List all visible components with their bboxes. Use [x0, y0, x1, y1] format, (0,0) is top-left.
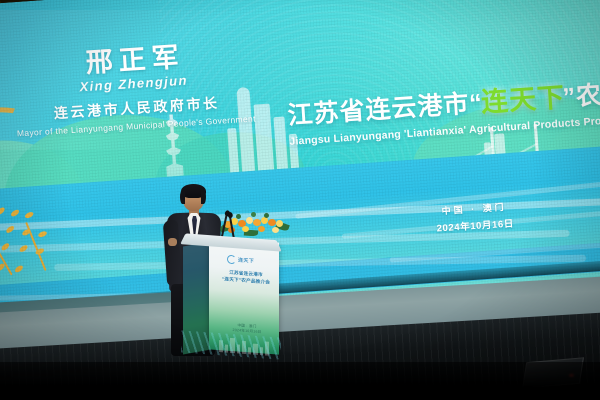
speaker-hair-side-left [180, 190, 185, 204]
foreground-dark-area [0, 362, 600, 400]
speaker-hand [168, 238, 177, 246]
conference-stage-photo: 邢正军 Xing Zhengjun 连云港市人民政府市长 Mayor of th… [0, 0, 600, 400]
speaker-name-card: 邢正军 Xing Zhengjun 连云港市人民政府市长 Mayor of th… [8, 38, 261, 139]
podium-logo-mark-icon [227, 255, 236, 265]
event-title-highlight: 连天下 [480, 83, 566, 118]
speaker-hair-side-right [201, 190, 206, 204]
event-meta: 中国 · 澳门 2024年10月16日 [435, 199, 514, 234]
podium: 连天下 江苏省连云港市 “连天下”农产品推介会 中国 · 澳门 2024年10月… [183, 238, 279, 356]
podium-logo-text: 连天下 [238, 256, 254, 264]
